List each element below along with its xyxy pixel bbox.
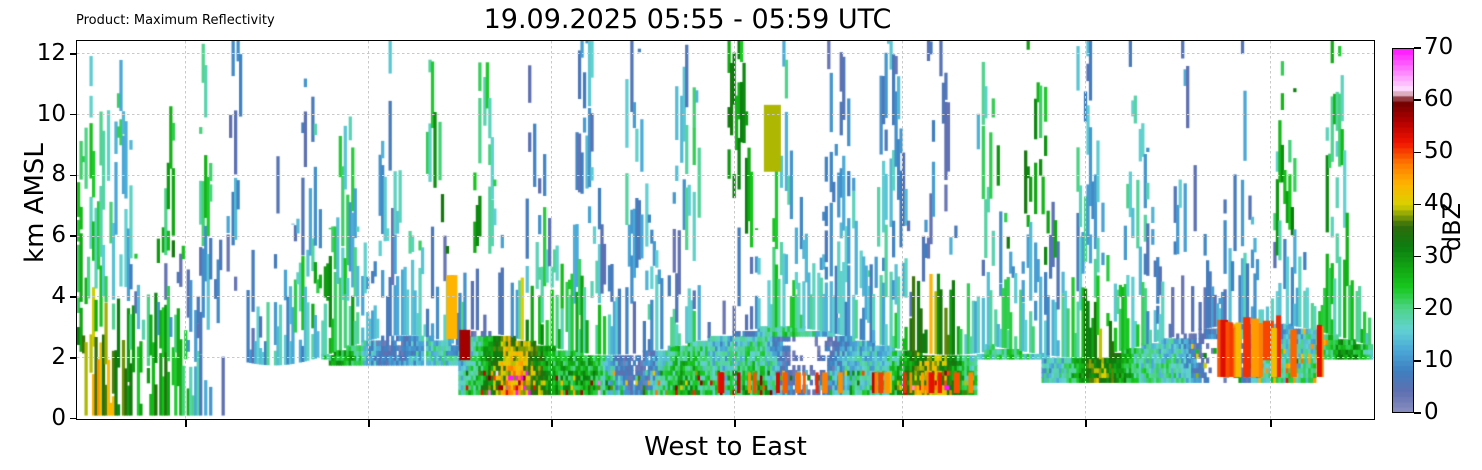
x-tick-mark [551, 420, 553, 427]
colorbar-tick-label: 50 [1424, 140, 1453, 163]
chart-title: 19.09.2025 05:55 - 05:59 UTC [0, 4, 1375, 36]
y-tick-label: 12 [37, 42, 66, 65]
colorbar-tick-mark [1414, 360, 1421, 361]
y-tick-label: 8 [51, 163, 66, 186]
colorbar-tick-label: 60 [1424, 88, 1453, 111]
colorbar-tick-mark [1414, 204, 1421, 205]
x-tick-mark [902, 420, 904, 427]
y-tick-mark [70, 296, 76, 298]
y-tick-mark [70, 357, 76, 359]
y-tick-mark [70, 175, 76, 177]
radar-cross-section-figure: Product: Maximum Reflectivity 19.09.2025… [0, 0, 1482, 470]
colorbar-label: dBZ [1440, 167, 1464, 287]
plot-clip [77, 41, 1374, 419]
y-tick-label: 2 [51, 346, 66, 369]
y-tick-mark [70, 53, 76, 55]
colorbar [1392, 48, 1414, 413]
colorbar-tick-label: 30 [1424, 245, 1453, 268]
x-tick-mark [1085, 420, 1087, 427]
colorbar-tick-mark [1414, 412, 1421, 413]
colorbar-tick-mark [1414, 256, 1421, 257]
x-tick-mark [1270, 420, 1272, 427]
y-tick-label: 6 [51, 224, 66, 247]
y-tick-label: 4 [51, 285, 66, 308]
plot-area [76, 40, 1375, 420]
x-tick-mark [185, 420, 187, 427]
y-tick-label: 0 [51, 407, 66, 430]
y-tick-label: 10 [37, 103, 66, 126]
colorbar-tick-mark [1414, 308, 1421, 309]
x-axis-label: West to East [76, 432, 1375, 462]
x-tick-mark [368, 420, 370, 427]
y-tick-mark [70, 235, 76, 237]
colorbar-tick-label: 20 [1424, 297, 1453, 320]
colorbar-tick-label: 40 [1424, 192, 1453, 215]
colorbar-frame [1392, 48, 1414, 413]
colorbar-gradient [1393, 49, 1413, 412]
x-tick-mark [734, 420, 736, 427]
y-tick-mark [70, 418, 76, 420]
colorbar-tick-mark [1414, 152, 1421, 153]
colorbar-tick-label: 70 [1424, 36, 1453, 59]
colorbar-tick-label: 10 [1424, 349, 1453, 372]
colorbar-tick-mark [1414, 47, 1421, 48]
reflectivity-heatmap [77, 41, 1373, 418]
colorbar-tick-label: 0 [1424, 401, 1439, 424]
colorbar-tick-mark [1414, 99, 1421, 100]
y-tick-mark [70, 114, 76, 116]
